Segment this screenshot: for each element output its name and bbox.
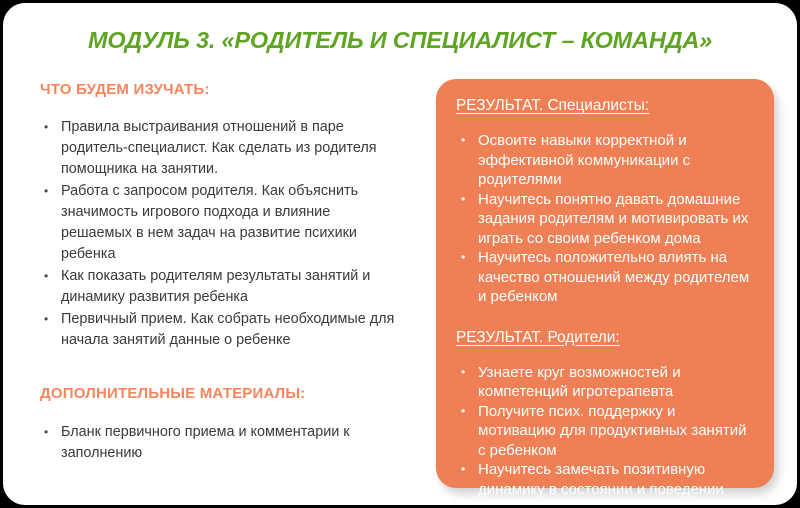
list-item: Научитесь замечать позитивную динамику в… [456, 460, 754, 505]
list-item: Работа с запросом родителя. Как объяснит… [40, 181, 400, 265]
list-item: Научитесь положительно влиять на качеств… [456, 248, 754, 307]
list-item: Узнаете круг возможностей и компетенций … [456, 363, 754, 402]
results-panel: РЕЗУЛЬТАТ. Специалисты: Освоите навыки к… [436, 79, 774, 488]
section-heading-materials: ДОПОЛНИТЕЛЬНЫЕ МАТЕРИАЛЫ: [40, 385, 400, 402]
additional-materials-list: Бланк первичного приема и комментарии к … [40, 422, 400, 464]
section-heading-study: ЧТО БУДЕМ ИЗУЧАТЬ: [40, 81, 400, 98]
list-item: Освоите навыки корректной и эффективной … [456, 131, 754, 190]
parents-results-list: Узнаете круг возможностей и компетенций … [456, 363, 754, 506]
specialists-results-list: Освоите навыки корректной и эффективной … [456, 131, 754, 307]
panel-heading-specialists: РЕЗУЛЬТАТ. Специалисты: [456, 97, 649, 115]
list-item: Как показать родителям результаты заняти… [40, 266, 400, 308]
list-item: Правила выстраивания отношений в паре ро… [40, 117, 400, 180]
panel-heading-parents: РЕЗУЛЬТАТ. Родители: [456, 329, 620, 347]
list-item: Бланк первичного приема и комментарии к … [40, 422, 400, 464]
list-item: Научитесь понятно давать домашние задани… [456, 190, 754, 249]
left-column: ЧТО БУДЕМ ИЗУЧАТЬ: Правила выстраивания … [40, 81, 400, 465]
study-topics-list: Правила выстраивания отношений в паре ро… [40, 117, 400, 351]
slide-root: МОДУЛЬ 3. «РОДИТЕЛЬ И СПЕЦИАЛИСТ – КОМАН… [0, 0, 800, 508]
list-item: Получите псих. поддержку и мотивацию для… [456, 402, 754, 461]
list-item: Первичный прием. Как собрать необходимые… [40, 309, 400, 351]
page-title: МОДУЛЬ 3. «РОДИТЕЛЬ И СПЕЦИАЛИСТ – КОМАН… [3, 27, 797, 54]
slide-card: МОДУЛЬ 3. «РОДИТЕЛЬ И СПЕЦИАЛИСТ – КОМАН… [3, 3, 797, 505]
